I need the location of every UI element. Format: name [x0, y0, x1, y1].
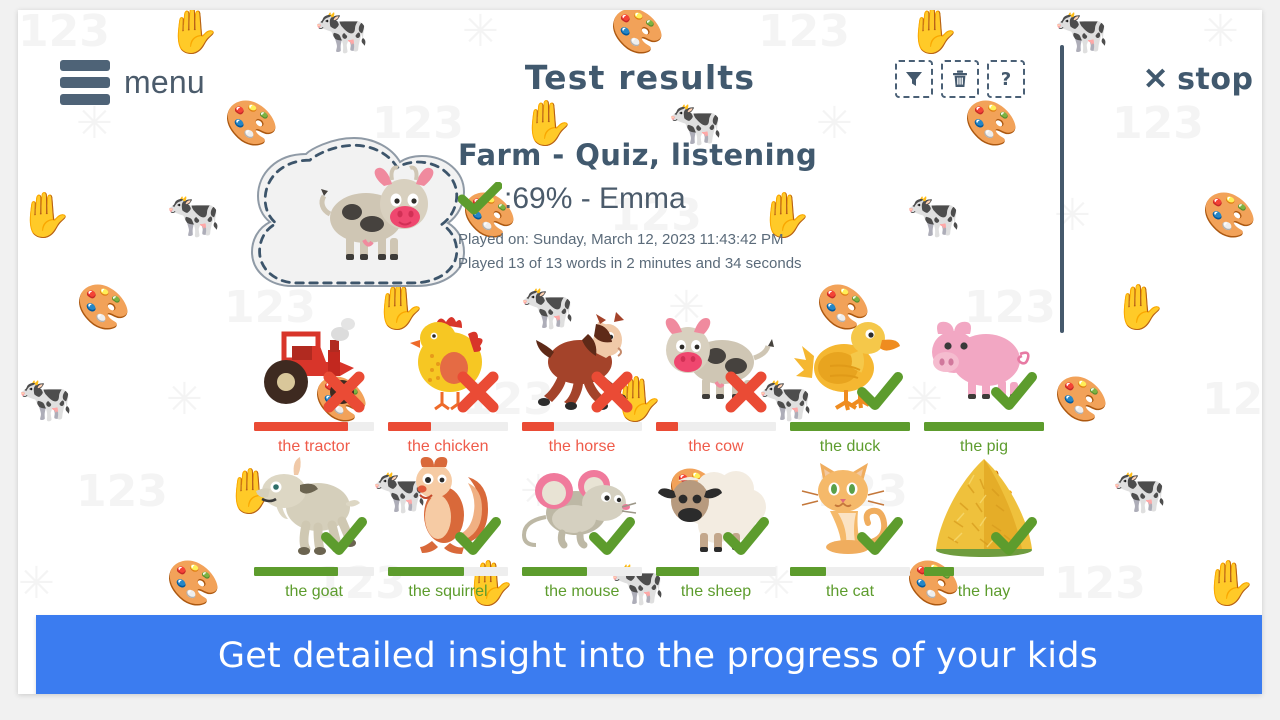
- result-card[interactable]: the hay: [924, 455, 1058, 600]
- progress-bar: [924, 567, 1044, 576]
- watermark-glyph: ✳: [18, 562, 55, 606]
- card-label: the cat: [790, 583, 910, 601]
- progress-bar: [790, 567, 910, 576]
- progress-bar: [656, 567, 776, 576]
- promo-banner: Get detailed insight into the progress o…: [36, 615, 1262, 694]
- result-grid: the tractor the chicken: [254, 310, 1054, 600]
- result-summary: Farm - Quiz, listening :69% - Emma Playe…: [18, 120, 1262, 305]
- card-label: the horse: [522, 438, 642, 456]
- svg-text:?: ?: [1001, 69, 1011, 89]
- result-card[interactable]: the cat: [790, 455, 924, 600]
- app-card: 123✋🐄✳🎨123✋🐄✳✳🎨123✋🐄✳🎨123✋✋🐄✳🎨123✋🐄✳🎨🎨12…: [18, 10, 1262, 694]
- result-card[interactable]: the pig: [924, 310, 1058, 455]
- check-icon: [454, 513, 502, 561]
- cross-icon: [454, 368, 502, 416]
- card-label: the tractor: [254, 438, 374, 456]
- check-icon: [856, 368, 904, 416]
- page-title: Test results: [18, 58, 1262, 97]
- result-card[interactable]: the mouse: [522, 455, 656, 600]
- cross-icon: [588, 368, 636, 416]
- watermark-glyph: 🐄: [1112, 470, 1167, 514]
- progress-bar: [254, 422, 374, 431]
- watermark-glyph: 123: [1054, 562, 1146, 606]
- stop-label: stop: [1177, 62, 1253, 97]
- watermark-glyph: ✳: [1260, 470, 1262, 514]
- app-header: menu Test results: [18, 10, 1262, 130]
- trash-icon: [950, 69, 970, 89]
- result-card[interactable]: the tractor: [254, 310, 388, 455]
- card-label: the squirrel: [388, 583, 508, 601]
- card-label: the pig: [924, 438, 1044, 456]
- cross-icon: [320, 368, 368, 416]
- summary-text: Farm - Quiz, listening :69% - Emma Playe…: [458, 138, 817, 277]
- score-line: :69% - Emma: [458, 182, 817, 216]
- progress-bar: [656, 422, 776, 431]
- promo-text: Get detailed insight into the progress o…: [218, 636, 1098, 676]
- result-card[interactable]: the sheep: [656, 455, 790, 600]
- progress-bar: [522, 567, 642, 576]
- cross-icon: [722, 368, 770, 416]
- card-label: the hay: [924, 583, 1044, 601]
- cow-illustration: [308, 158, 438, 270]
- check-icon: [722, 513, 770, 561]
- question-mark-icon: ?: [996, 69, 1016, 89]
- progress-bar: [522, 422, 642, 431]
- watermark-glyph: ✋: [1202, 562, 1257, 606]
- result-card[interactable]: the cow: [656, 310, 790, 455]
- check-icon: [990, 368, 1038, 416]
- check-icon: [990, 513, 1038, 561]
- check-icon: [458, 182, 502, 216]
- card-label: the goat: [254, 583, 374, 601]
- help-button[interactable]: ?: [987, 60, 1025, 98]
- stop-button[interactable]: ✕ stop: [1143, 62, 1253, 97]
- result-card[interactable]: the chicken: [388, 310, 522, 455]
- close-x-icon: ✕: [1143, 65, 1168, 95]
- card-label: the chicken: [388, 438, 508, 456]
- result-card[interactable]: the squirrel: [388, 455, 522, 600]
- played-words-text: Played 13 of 13 words in 2 minutes and 3…: [458, 252, 817, 276]
- watermark-glyph: 🎨: [166, 562, 221, 606]
- quiz-name: Farm - Quiz, listening: [458, 138, 817, 172]
- quiz-badge: [246, 128, 478, 296]
- progress-bar: [254, 567, 374, 576]
- delete-button[interactable]: [941, 60, 979, 98]
- result-card[interactable]: the duck: [790, 310, 924, 455]
- score-text: :69% - Emma: [504, 182, 686, 216]
- check-icon: [856, 513, 904, 561]
- result-card[interactable]: the goat: [254, 455, 388, 600]
- progress-bar: [924, 422, 1044, 431]
- progress-bar: [388, 422, 508, 431]
- progress-bar: [388, 567, 508, 576]
- card-label: the duck: [790, 438, 910, 456]
- card-label: the sheep: [656, 583, 776, 601]
- filter-button[interactable]: [895, 60, 933, 98]
- card-label: the cow: [656, 438, 776, 456]
- check-icon: [588, 513, 636, 561]
- check-icon: [320, 513, 368, 561]
- funnel-icon: [904, 69, 924, 89]
- watermark-glyph: 🐄: [18, 378, 73, 422]
- result-card[interactable]: the horse: [522, 310, 656, 455]
- watermark-glyph: 123: [1202, 378, 1262, 422]
- played-on-text: Played on: Sunday, March 12, 2023 11:43:…: [458, 228, 817, 252]
- header-icon-buttons: ?: [895, 60, 1025, 98]
- watermark-glyph: 🎨: [1054, 378, 1109, 422]
- watermark-glyph: ✳: [166, 378, 203, 422]
- watermark-glyph: 123: [76, 470, 168, 514]
- card-label: the mouse: [522, 583, 642, 601]
- progress-bar: [790, 422, 910, 431]
